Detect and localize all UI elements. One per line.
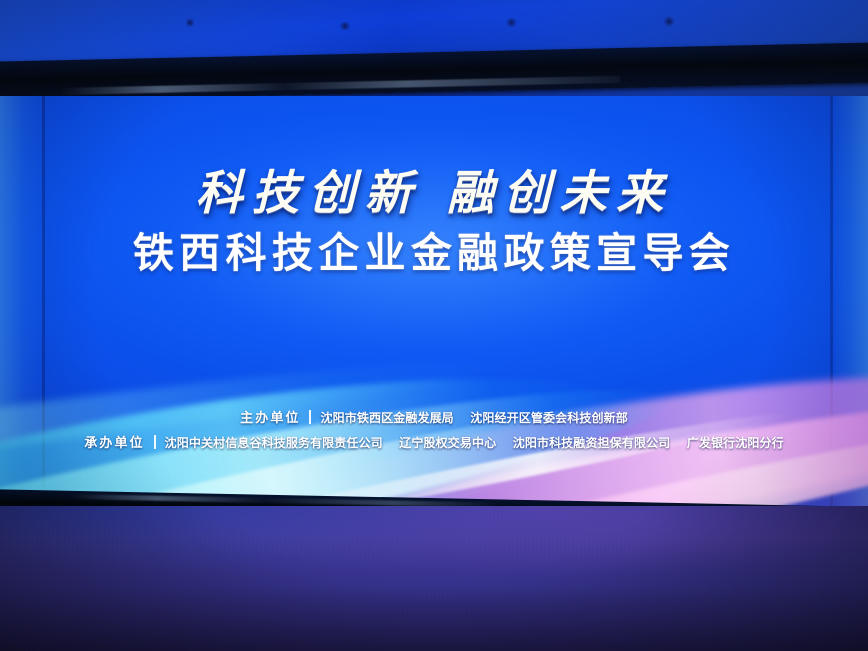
credit-row-coorganizer: 承办单位 沈阳中关村信息谷科技服务有限责任公司 辽宁股权交易中心 沈阳市科技融资… [0, 433, 868, 451]
organization-name: 沈阳市科技融资担保有限公司 [513, 436, 671, 450]
ceiling-fixture-dot [185, 18, 195, 27]
credit-organizations-host: 沈阳市铁西区金融发展局 沈阳经开区管委会科技创新部 [320, 412, 627, 426]
credit-divider-icon [309, 410, 311, 424]
headline-main-slogan: 科技创新 融创未来 [0, 170, 868, 217]
organization-name: 沈阳经开区管委会科技创新部 [470, 411, 628, 425]
backdrop-headline: 科技创新 融创未来 铁西科技企业金融政策宣导会 [0, 170, 868, 274]
organization-name: 广发银行沈阳分行 [687, 436, 784, 450]
organization-name: 沈阳市铁西区金融发展局 [320, 411, 453, 425]
organization-name: 沈阳中关村信息谷科技服务有限责任公司 [165, 436, 383, 450]
stage-floor-vignette [0, 506, 868, 651]
stage-photo-scene: 科技创新 融创未来 铁西科技企业金融政策宣导会 主办单位 沈阳市铁西区金融发展局… [0, 0, 868, 651]
led-screen [0, 96, 868, 516]
credit-organizations-coorganizer: 沈阳中关村信息谷科技服务有限责任公司 辽宁股权交易中心 沈阳市科技融资担保有限公… [165, 437, 784, 451]
headline-event-title: 铁西科技企业金融政策宣导会 [0, 233, 868, 274]
credit-divider-icon [154, 435, 156, 449]
ceiling-fixture-dot [338, 22, 352, 30]
credit-label-coorganizer: 承办单位 [84, 436, 144, 451]
ceiling-fixture-dot [663, 16, 675, 27]
ceiling-fixture-dot [505, 18, 518, 27]
credit-label-host: 主办单位 [240, 411, 300, 426]
organization-name: 辽宁股权交易中心 [399, 436, 496, 450]
credit-row-host: 主办单位 沈阳市铁西区金融发展局 沈阳经开区管委会科技创新部 [0, 408, 868, 426]
organizer-credits: 主办单位 沈阳市铁西区金融发展局 沈阳经开区管委会科技创新部 承办单位 沈阳中关… [0, 408, 868, 451]
